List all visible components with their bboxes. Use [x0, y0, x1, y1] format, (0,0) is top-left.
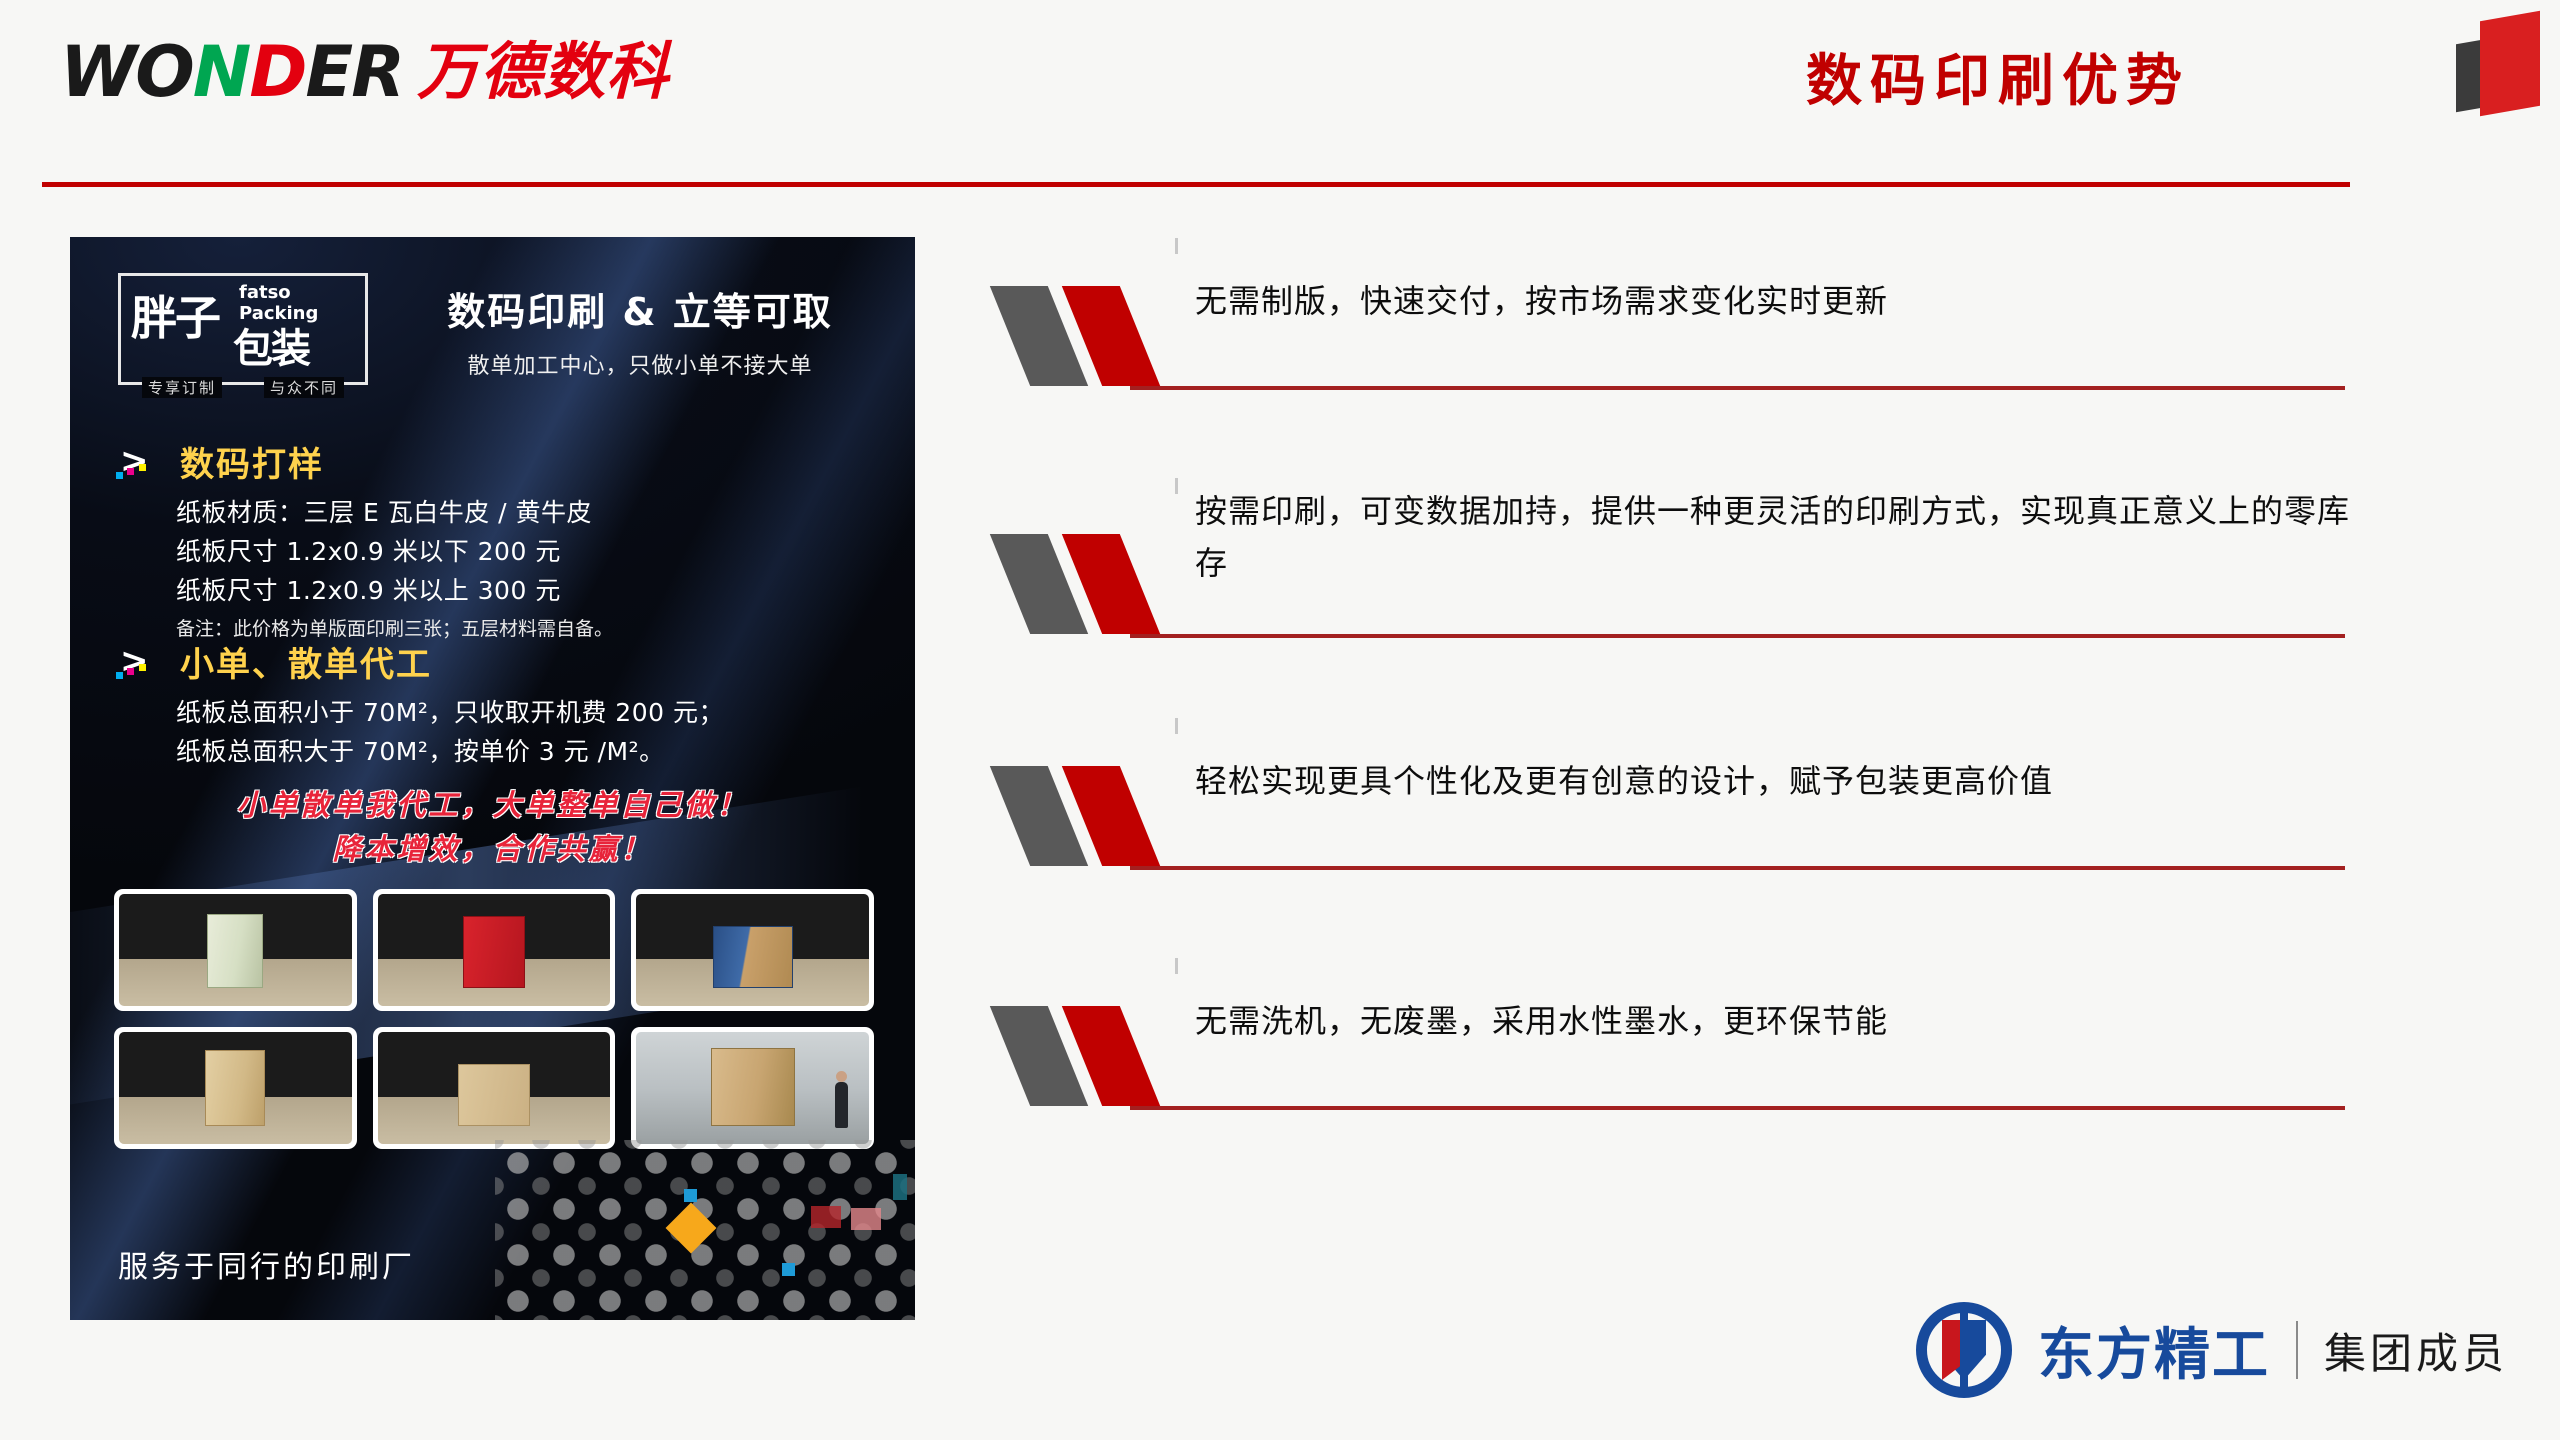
dot-yellow: [139, 664, 146, 671]
poster-headline-block: 数码印刷 & 立等可取 散单加工中心，只做小单不接大单: [400, 281, 880, 380]
dot-yellow: [139, 464, 146, 471]
product-photo: [114, 1027, 357, 1149]
slogan-line-1: 小单散单我代工，大单整单自己做！: [70, 784, 915, 828]
fatso-logo-taglines: 专享订制 与众不同: [121, 377, 365, 398]
advantage-text-1: 无需制版，快速交付，按市场需求变化实时更新: [1195, 276, 2370, 328]
footer-member-label: 集团成员: [2324, 1320, 2508, 1381]
footer-company-name: 东方精工: [2038, 1310, 2270, 1391]
section-1-line-1: 纸板材质：三层 E 瓦白牛皮 / 黄牛皮: [176, 494, 874, 533]
poster-footer-text: 服务于同行的印刷厂: [118, 1242, 415, 1286]
fatso-packing-logo: 胖子 fatso Packing 包装 专享订制 与众不同: [118, 273, 368, 385]
product-photo: [373, 1027, 616, 1149]
advantages-list: 无需制版，快速交付，按市场需求变化实时更新 按需印刷，可变数据加持，提供一种更灵…: [1010, 250, 2380, 1210]
product-photo: [373, 889, 616, 1011]
poster-section-digital-proofing: > 数码打样 纸板材质：三层 E 瓦白牛皮 / 黄牛皮 纸板尺寸 1.2x0.9…: [114, 437, 874, 641]
bullet-marker-icon: [1010, 286, 1180, 386]
section-2-body: 纸板总面积小于 70M²，只收取开机费 200 元； 纸板总面积大于 70M²，…: [176, 694, 874, 772]
brand-chinese-name: 万德数科: [417, 41, 669, 103]
tick-mark: [1175, 478, 1178, 494]
fatso-tagline-right: 与众不同: [264, 377, 344, 398]
advantage-item-4: 无需洗机，无废墨，采用水性墨水，更环保节能: [1010, 970, 2380, 1210]
bullet-marker-icon: [1010, 1006, 1180, 1106]
bullet-marker-icon: [1010, 534, 1180, 634]
corner-deco-dark: [2456, 40, 2482, 113]
advantage-underline: [1130, 866, 2345, 870]
section-1-title: 数码打样: [180, 437, 324, 486]
section-2-title-row: > 小单、散单代工: [114, 637, 874, 686]
poster-slogan: 小单散单我代工，大单整单自己做！ 降本增效，合作共赢！: [70, 784, 915, 871]
advantage-text-3: 轻松实现更具个性化及更有创意的设计，赋予包装更高价值: [1195, 756, 2370, 808]
advantage-underline: [1130, 634, 2345, 638]
advantage-underline: [1130, 386, 2345, 390]
chevron-glyph: >: [120, 644, 149, 678]
poster-headline: 数码印刷 & 立等可取: [400, 281, 880, 336]
poster-subheadline: 散单加工中心，只做小单不接大单: [400, 348, 880, 380]
chevron-glyph: >: [120, 444, 149, 478]
product-photo: [631, 1027, 874, 1149]
section-2-line-1: 纸板总面积小于 70M²，只收取开机费 200 元；: [176, 694, 874, 733]
fatso-tagline-left: 专享订制: [142, 377, 222, 398]
advantage-text-2: 按需印刷，可变数据加持，提供一种更灵活的印刷方式，实现真正意义上的零库存: [1195, 486, 2370, 590]
page-title: 数码印刷优势: [1806, 36, 2190, 117]
accent-square-blue: [684, 1189, 697, 1202]
product-photo-grid: [114, 889, 874, 1149]
tick-mark: [1175, 958, 1178, 974]
wonder-d: D: [249, 37, 305, 107]
slogan-line-2: 降本增效，合作共赢！: [70, 828, 915, 872]
wonder-wo: WO: [60, 37, 193, 107]
corner-decoration-icon: [2450, 6, 2550, 111]
chevron-arrow-icon: >: [114, 442, 166, 482]
advantage-underline: [1130, 1106, 2345, 1110]
fatso-logo-cn-line2: 包装: [233, 316, 309, 374]
product-photo: [114, 889, 357, 1011]
promo-poster-image: 胖子 fatso Packing 包装 专享订制 与众不同 数码印刷 & 立等可…: [70, 237, 915, 1320]
fatso-logo-cn-line1: 胖子: [131, 282, 219, 348]
footer-divider: [2296, 1321, 2298, 1379]
section-1-title-row: > 数码打样: [114, 437, 874, 486]
poster-section-small-order-oem: > 小单、散单代工 纸板总面积小于 70M²，只收取开机费 200 元； 纸板总…: [114, 637, 874, 772]
chevron-arrow-icon: >: [114, 642, 166, 682]
wonder-brand-logo: WONDER 万德数科: [60, 38, 669, 106]
footer-branding: 东方精工 集团成员: [1916, 1302, 2508, 1398]
bullet-marker-icon: [1010, 766, 1180, 866]
dot-magenta: [127, 668, 134, 675]
dot-cyan: [116, 472, 123, 479]
slide-header: WONDER 万德数科 数码印刷优势: [0, 0, 2560, 190]
wonder-er: ER: [305, 37, 403, 107]
dongfang-logo-icon: [1916, 1302, 2012, 1398]
section-1-line-3: 纸板尺寸 1.2x0.9 米以上 300 元: [176, 572, 874, 611]
accent-dot-red: [811, 1206, 841, 1228]
wonder-n: N: [193, 37, 250, 107]
advantage-item-3: 轻松实现更具个性化及更有创意的设计，赋予包装更高价值: [1010, 730, 2380, 970]
accent-dot-teal: [893, 1174, 907, 1200]
tick-mark: [1175, 238, 1178, 254]
product-photo: [631, 889, 874, 1011]
section-1-line-2: 纸板尺寸 1.2x0.9 米以下 200 元: [176, 533, 874, 572]
advantage-text-4: 无需洗机，无废墨，采用水性墨水，更环保节能: [1195, 996, 2370, 1048]
accent-dot-pink: [851, 1208, 881, 1230]
wonder-wordmark: WONDER: [60, 37, 403, 107]
section-2-title: 小单、散单代工: [180, 637, 432, 686]
dot-cyan: [116, 672, 123, 679]
advantage-item-1: 无需制版，快速交付，按市场需求变化实时更新: [1010, 250, 2380, 490]
accent-square-blue: [782, 1263, 795, 1276]
advantage-item-2: 按需印刷，可变数据加持，提供一种更灵活的印刷方式，实现真正意义上的零库存: [1010, 490, 2380, 730]
logo-stem: [1960, 1306, 1968, 1394]
section-2-line-2: 纸板总面积大于 70M²，按单价 3 元 /M²。: [176, 733, 874, 772]
corner-deco-red: [2480, 11, 2540, 117]
section-1-body: 纸板材质：三层 E 瓦白牛皮 / 黄牛皮 纸板尺寸 1.2x0.9 米以下 20…: [176, 494, 874, 641]
dot-magenta: [127, 468, 134, 475]
tick-mark: [1175, 718, 1178, 734]
header-divider: [42, 182, 2350, 187]
